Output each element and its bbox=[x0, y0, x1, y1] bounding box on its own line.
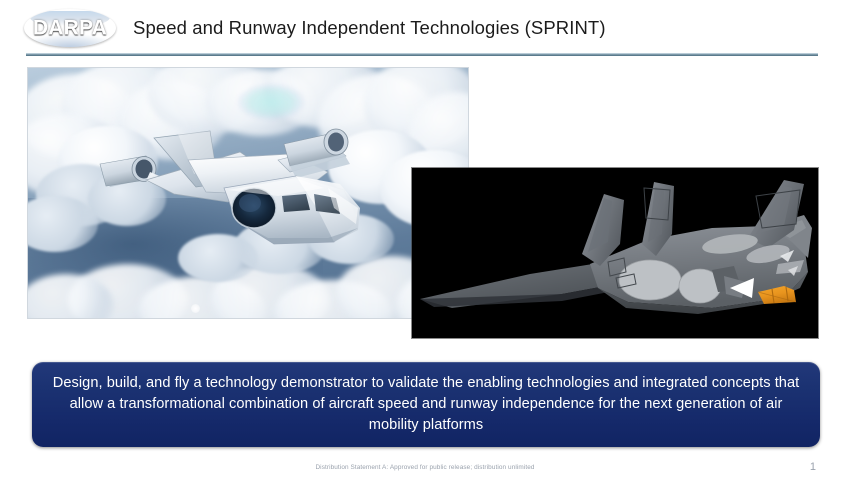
concept-render-clouds-image bbox=[28, 68, 468, 318]
darpa-logo-text: DARPA bbox=[24, 18, 116, 39]
darpa-logo: DARPA bbox=[24, 9, 116, 47]
slide-header: DARPA Speed and Runway Independent Techn… bbox=[0, 0, 850, 58]
page-number: 1 bbox=[810, 461, 816, 473]
header-divider bbox=[26, 53, 818, 56]
page-title: Speed and Runway Independent Technologie… bbox=[133, 17, 606, 39]
aircraft-blended-wing-body bbox=[412, 168, 818, 338]
distribution-statement: Distribution Statement A: Approved for p… bbox=[0, 464, 850, 471]
cad-render-dark-image bbox=[412, 168, 818, 338]
mission-statement-text: Design, build, and fly a technology demo… bbox=[46, 373, 806, 436]
aircraft-silhouette-light bbox=[28, 68, 468, 318]
mission-statement-callout: Design, build, and fly a technology demo… bbox=[32, 362, 820, 447]
slide-root: DARPA Speed and Runway Independent Techn… bbox=[0, 0, 850, 478]
